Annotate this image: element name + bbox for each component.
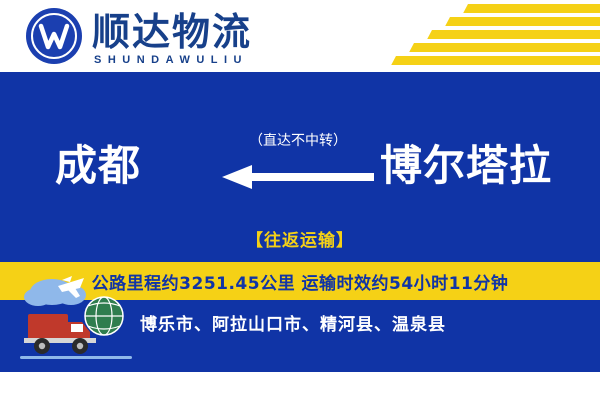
brand-name-cn: 顺达物流	[92, 12, 252, 52]
poster-root: 顺达物流 SHUNDAWULIU 成都 （直达不中转） 博尔塔拉 【往返运	[0, 0, 600, 400]
circle-w-logistics-logo-icon	[31, 13, 77, 59]
logistics-illustration	[18, 270, 136, 366]
destination-list: 博乐市、阿拉山口市、精河县、温泉县	[140, 310, 446, 335]
bottom-strip	[0, 372, 600, 400]
distance-duration-text: 公路里程约3251.45公里 运输时效约54小时11分钟	[92, 269, 509, 294]
double-arrow-icon	[218, 162, 378, 192]
main-panel: 成都 （直达不中转） 博尔塔拉 【往返运输】 公路里程约3251.45公里 运输…	[0, 72, 600, 400]
origin-city: 成都	[55, 140, 141, 192]
header-stripes	[350, 0, 600, 72]
route-row: 成都 （直达不中转） 博尔塔拉	[0, 114, 600, 224]
header: 顺达物流 SHUNDAWULIU	[0, 0, 600, 72]
destination-city: 博尔塔拉	[380, 140, 552, 192]
round-trip-label: 【往返运输】	[0, 226, 600, 251]
truck-globe-plane-icon	[18, 270, 136, 366]
route-arrow: （直达不中转）	[218, 138, 378, 194]
brand-name-en: SHUNDAWULIU	[94, 54, 248, 66]
direct-route-note: （直达不中转）	[249, 130, 347, 150]
logo-icon	[26, 8, 82, 64]
